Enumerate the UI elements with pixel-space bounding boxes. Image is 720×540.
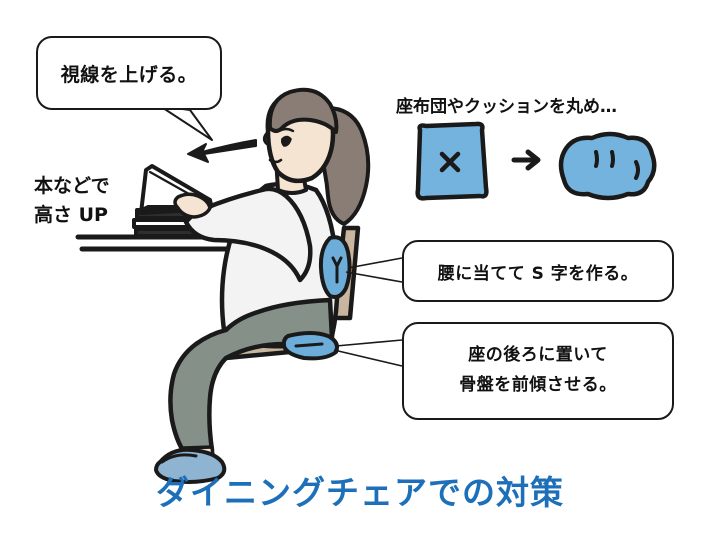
bubble-lumbar-support[interactable]: 腰に当てて S 字を作る。 (402, 240, 674, 302)
bubble-pelvis-tilt[interactable]: 座の後ろに置いて 骨盤を前傾させる。 (402, 322, 674, 420)
leader-lumbar-2 (346, 272, 402, 282)
bubble-pelvis-line-2: 骨盤を前傾させる。 (459, 371, 617, 401)
leader-pelvis-2 (334, 350, 402, 366)
bubble-lumbar-line-1: 腰に当てて S 字を作る。 (438, 259, 639, 284)
illustration-canvas: 視線を上げる。 腰に当てて S 字を作る。 座の後ろに置いて 骨盤を前傾させる。… (0, 0, 720, 540)
leader-pelvis (336, 340, 402, 346)
bubble-gaze-line-1: 視線を上げる。 (61, 60, 198, 87)
leader-lumbar (348, 258, 402, 268)
bubble-pelvis-line-1: 座の後ろに置いて (468, 341, 608, 371)
bubble-tail-gaze (150, 104, 240, 144)
bubble-raise-gaze[interactable]: 視線を上げる。 (36, 36, 222, 110)
